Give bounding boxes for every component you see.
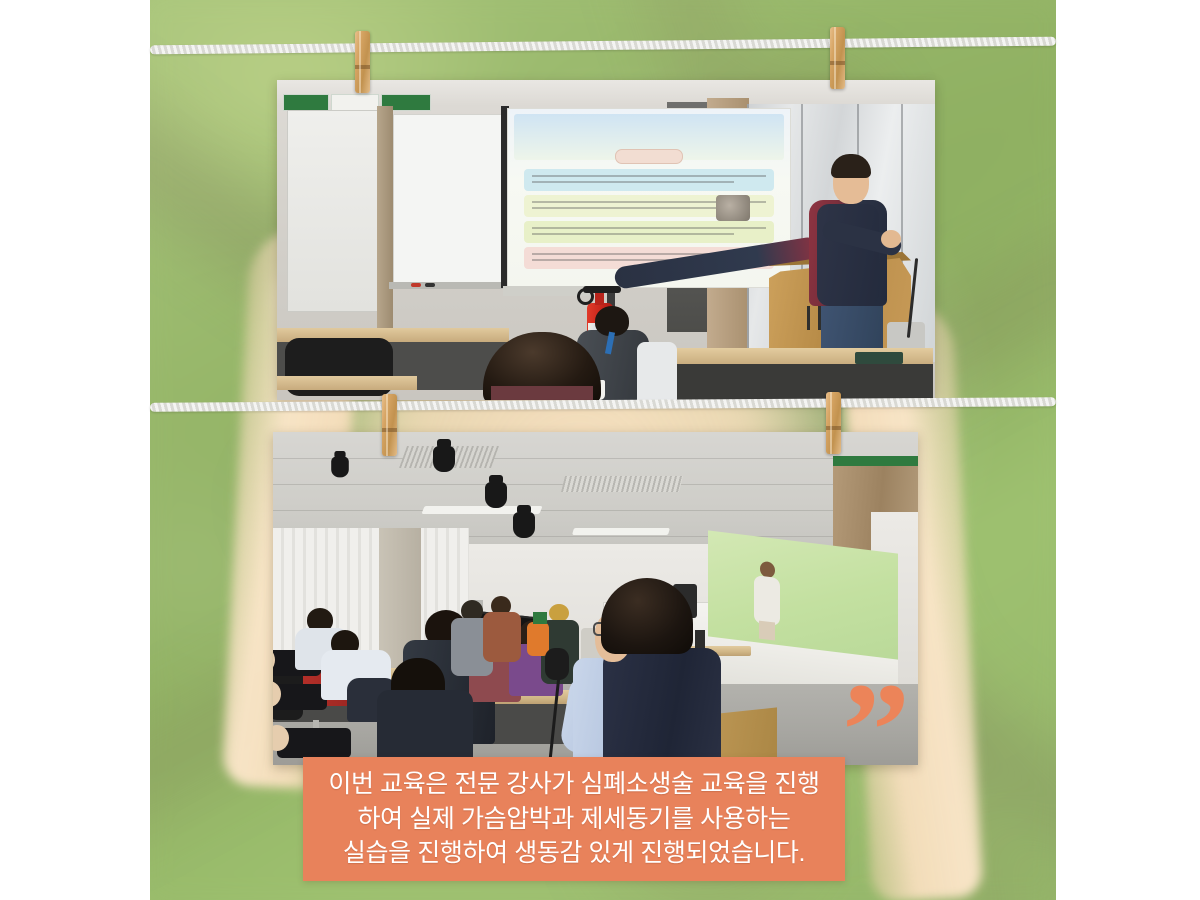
- cpr-manikin: [273, 684, 327, 710]
- clothespin: [382, 394, 397, 456]
- clothespin: [355, 31, 370, 93]
- caption-line-1: 이번 교육은 전문 강사가 심폐소생술 교육을 진행: [328, 769, 819, 800]
- slide-row: [524, 169, 774, 191]
- exit-sign-icon: [533, 612, 547, 624]
- clothespin: [830, 27, 845, 89]
- ceiling-vent: [561, 476, 683, 492]
- caption-line-2: 하여 실제 가슴압박과 제세동기를 사용하는: [358, 804, 791, 835]
- whiteboard: [393, 114, 503, 284]
- left-door: [287, 110, 381, 312]
- cpr-training-photo[interactable]: [273, 432, 918, 765]
- ceiling-spotlight: [433, 446, 455, 472]
- caption-box: 이번 교육은 전문 강사가 심폐소생술 교육을 진행 하여 실제 가슴압박과 제…: [303, 757, 845, 881]
- fire-extinguisher-lecture-photo[interactable]: [277, 80, 935, 400]
- wall-sign-row: [283, 94, 433, 110]
- marker-tray: [389, 282, 509, 289]
- second-side-desk: [277, 376, 417, 390]
- front-desk-panel: [665, 364, 933, 400]
- wall-sign: [331, 94, 379, 111]
- extinguisher-pin-ring: [577, 288, 594, 305]
- ceiling-light: [572, 528, 670, 535]
- ceiling-spotlight: [485, 482, 507, 508]
- slide-thumbnail: [716, 195, 750, 221]
- quote-mark-icon: ”: [842, 689, 914, 751]
- cpr-manikin: [277, 728, 351, 758]
- notebook: [855, 352, 903, 364]
- clothespin: [826, 392, 841, 454]
- speaker-stand: [695, 630, 705, 648]
- ceiling-spotlight: [513, 512, 535, 538]
- slide-title-pill: [615, 149, 683, 164]
- instructor-vest: [817, 204, 879, 306]
- foreground-attendee-shoulders: [491, 386, 593, 400]
- trainee-body: [377, 690, 473, 765]
- ceiling-spotlight: [331, 457, 349, 478]
- wall-sign: [283, 94, 329, 111]
- standing-person-body: [483, 612, 521, 662]
- marker: [425, 283, 435, 287]
- door-frame: [377, 106, 393, 336]
- poster-canvas: ” 이번 교육은 전문 강사가 심폐소생술 교육을 진행 하여 실제 가슴압박과…: [0, 0, 1200, 900]
- instructor-hand: [881, 230, 901, 248]
- instructor-vest: [603, 648, 721, 765]
- slide-row: [524, 221, 774, 243]
- marker: [411, 283, 421, 287]
- seated-attendee-sleeve: [637, 342, 677, 400]
- orange-bag: [527, 622, 549, 656]
- screen-person-figure: [752, 560, 782, 640]
- extinguisher-neck: [595, 292, 604, 305]
- caption-line-3: 실습을 진행하여 생동감 있게 진행되었습니다.: [343, 838, 805, 869]
- microphone-icon: [545, 648, 569, 680]
